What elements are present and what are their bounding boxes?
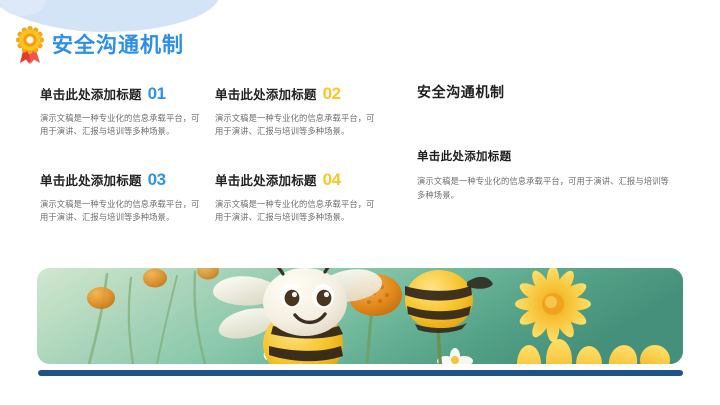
right-detail-panel: 安全沟通机制 单击此处添加标题 演示文稿是一种专业化的信息承载平台，可用于演讲、… (417, 82, 687, 203)
feature-card-02[interactable]: 单击此处添加标题 02 演示文稿是一种专业化的信息承载平台，可用于演讲、汇报与培… (215, 84, 390, 139)
feature-card-title: 单击此处添加标题 (215, 84, 317, 103)
award-ribbon-icon (13, 25, 47, 65)
feature-card-number: 01 (148, 85, 166, 102)
feature-card-body: 演示文稿是一种专业化的信息承载平台，可用于演讲、汇报与培训等多种场景。 (40, 112, 201, 139)
feature-card-header: 单击此处添加标题 04 (215, 170, 376, 189)
feature-card-01[interactable]: 单击此处添加标题 01 演示文稿是一种专业化的信息承载平台，可用于演讲、汇报与培… (40, 84, 215, 139)
bee-illustration (37, 268, 683, 364)
feature-card-03[interactable]: 单击此处添加标题 03 演示文稿是一种专业化的信息承载平台，可用于演讲、汇报与培… (40, 170, 215, 225)
feature-card-header: 单击此处添加标题 02 (215, 84, 376, 103)
feature-card-number: 03 (148, 171, 166, 188)
bottom-accent-bar (38, 370, 683, 376)
slide-canvas: 安全沟通机制 单击此处添加标题 01 演示文稿是一种专业化的信息承载平台，可用于… (0, 0, 720, 405)
right-panel-body: 演示文稿是一种专业化的信息承载平台，可用于演讲、汇报与培训等多种场景。 (417, 175, 675, 203)
page-title: 安全沟通机制 (52, 35, 184, 56)
feature-card-body: 演示文稿是一种专业化的信息承载平台，可用于演讲、汇报与培训等多种场景。 (40, 198, 201, 225)
feature-card-title: 单击此处添加标题 (215, 170, 317, 189)
right-panel-subheading: 单击此处添加标题 (417, 148, 687, 164)
feature-card-title: 单击此处添加标题 (40, 84, 142, 103)
feature-grid-row: 单击此处添加标题 03 演示文稿是一种专业化的信息承载平台，可用于演讲、汇报与培… (40, 170, 390, 225)
feature-card-number: 04 (323, 171, 341, 188)
feature-card-body: 演示文稿是一种专业化的信息承载平台，可用于演讲、汇报与培训等多种场景。 (215, 198, 376, 225)
right-panel-heading: 安全沟通机制 (417, 82, 687, 102)
feature-grid-row: 单击此处添加标题 01 演示文稿是一种专业化的信息承载平台，可用于演讲、汇报与培… (40, 84, 390, 139)
feature-card-04[interactable]: 单击此处添加标题 04 演示文稿是一种专业化的信息承载平台，可用于演讲、汇报与培… (215, 170, 390, 225)
feature-card-header: 单击此处添加标题 03 (40, 170, 201, 189)
slide-header: 安全沟通机制 (13, 24, 184, 66)
feature-card-title: 单击此处添加标题 (40, 170, 142, 189)
feature-card-body: 演示文稿是一种专业化的信息承载平台，可用于演讲、汇报与培训等多种场景。 (215, 112, 376, 139)
feature-card-number: 02 (323, 85, 341, 102)
feature-card-header: 单击此处添加标题 01 (40, 84, 201, 103)
feature-grid: 单击此处添加标题 01 演示文稿是一种专业化的信息承载平台，可用于演讲、汇报与培… (40, 84, 390, 225)
